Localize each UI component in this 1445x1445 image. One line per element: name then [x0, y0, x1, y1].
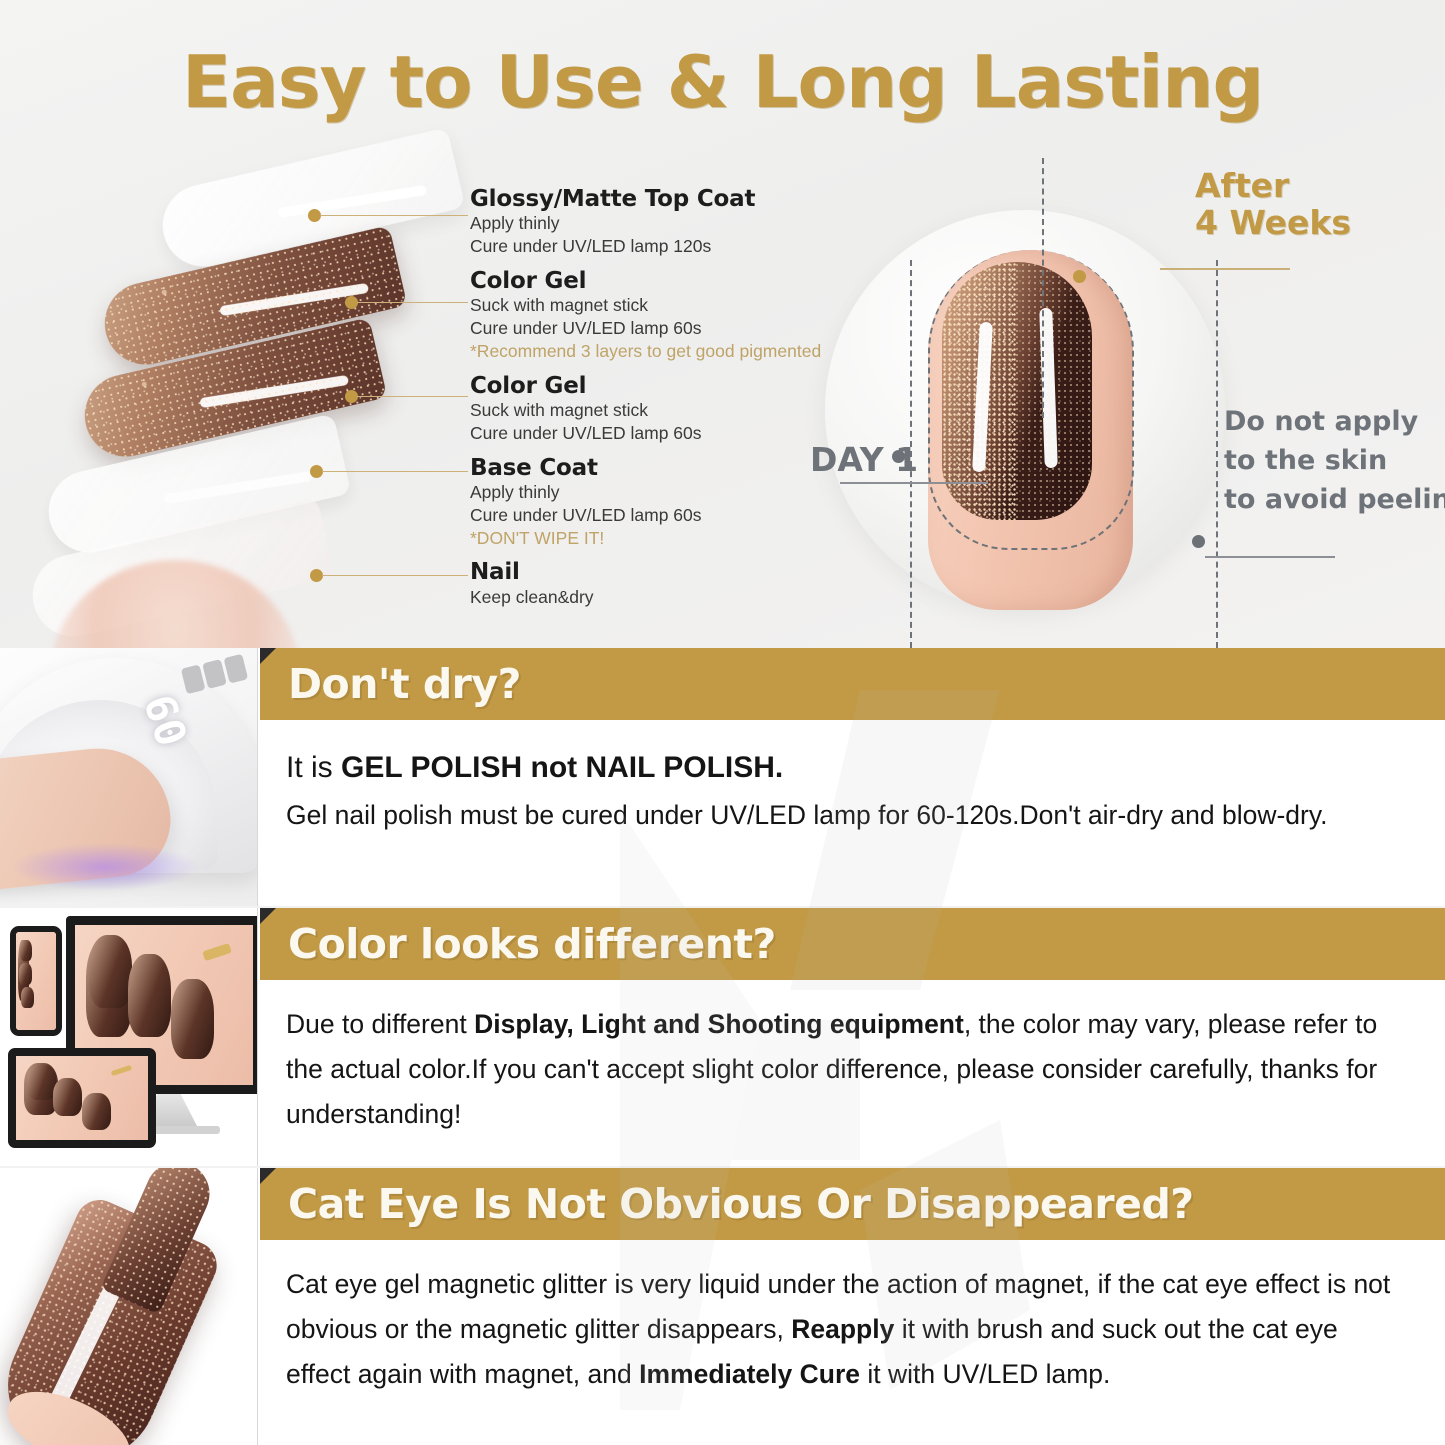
layer-line: Suck with magnet stick: [470, 399, 860, 422]
day-1-label: DAY 1: [810, 440, 918, 479]
faq-section-dont-dry: 60 Don't dry? It is GEL POLISH not NAIL …: [0, 648, 1445, 906]
faq-text-bold: Display, Light and Shooting equipment: [474, 1009, 964, 1039]
faq-body-text: Due to different Display, Light and Shoo…: [260, 980, 1445, 1137]
banner-notch-icon: [260, 648, 276, 664]
leader-line-color-gel-2: [357, 396, 468, 397]
day-1-underline: [840, 482, 988, 484]
layer-stack-illustration: [40, 150, 500, 648]
faq-text-bold-cure: Immediately Cure: [639, 1359, 860, 1389]
layer-note: *DON'T WIPE IT!: [470, 527, 860, 550]
skin-warning-line-1: Do not apply: [1224, 402, 1445, 441]
leader-line-top-coat: [320, 215, 468, 216]
layer-nail: Nail Keep clean&dry: [470, 559, 860, 608]
layer-line: Cure under UV/LED lamp 120s: [470, 235, 860, 258]
page-title: Easy to Use & Long Lasting: [0, 40, 1445, 124]
banner-notch-icon: [260, 1168, 276, 1184]
faq-banner-cat-eye: Cat Eye Is Not Obvious Or Disappeared?: [260, 1168, 1445, 1240]
layer-line: Cure under UV/LED lamp 60s: [470, 317, 860, 340]
layer-line: Cure under UV/LED lamp 60s: [470, 422, 860, 445]
leader-line-nail: [322, 575, 468, 576]
faq-heading: Cat Eye Is Not Obvious Or Disappeared?: [288, 1180, 1194, 1228]
faq-body-text: It is GEL POLISH not NAIL POLISH. Gel na…: [260, 720, 1445, 838]
leader-line-base-coat: [322, 471, 468, 472]
layer-line: Keep clean&dry: [470, 586, 860, 609]
layer-color-gel-2: Color Gel Suck with magnet stick Cure un…: [470, 373, 860, 445]
layer-title: Color Gel: [470, 268, 860, 294]
faq-section-cat-eye: Cat Eye Is Not Obvious Or Disappeared? C…: [0, 1168, 1445, 1445]
faq-text-post: it with UV/LED lamp.: [860, 1359, 1110, 1389]
uv-lamp-photo: 60: [0, 648, 258, 906]
layer-top-coat: Glossy/Matte Top Coat Apply thinly Cure …: [470, 186, 860, 258]
faq-section-color-different: Color looks different? Due to different …: [0, 908, 1445, 1166]
faq-lead-bold: GEL POLISH not NAIL POLISH.: [341, 751, 783, 784]
layer-line: Apply thinly: [470, 481, 860, 504]
layer-line: Apply thinly: [470, 212, 860, 235]
after-underline: [1160, 268, 1290, 270]
phone-device: [10, 926, 62, 1036]
leader-line-color-gel-1: [357, 302, 468, 303]
nail-outline-dashes: [928, 250, 1134, 550]
faq-paragraph: Gel nail polish must be cured under UV/L…: [286, 800, 1328, 830]
faq-text-bold-reapply: Reapply: [791, 1314, 894, 1344]
faq-text-pre: Due to different: [286, 1009, 474, 1039]
layer-note: *Recommend 3 layers to get good pigmente…: [470, 340, 860, 363]
layer-title: Base Coat: [470, 455, 860, 481]
hero-panel: Easy to Use & Long Lasting Glossy/Matte …: [0, 0, 1445, 648]
leader-dot-after-4-weeks: [1073, 270, 1086, 283]
layer-line: Suck with magnet stick: [470, 294, 860, 317]
faq-banner-dont-dry: Don't dry?: [260, 648, 1445, 720]
layer-line: Cure under UV/LED lamp 60s: [470, 504, 860, 527]
layer-base-coat: Base Coat Apply thinly Cure under UV/LED…: [470, 455, 860, 550]
infographic-page: Easy to Use & Long Lasting Glossy/Matte …: [0, 0, 1445, 1445]
after-line-2: 4 Weeks: [1195, 205, 1351, 242]
leader-dot-skin: [1192, 535, 1205, 548]
layer-labels: Glossy/Matte Top Coat Apply thinly Cure …: [470, 186, 860, 618]
after-line-1: After: [1195, 168, 1351, 205]
faq-body-text: Cat eye gel magnetic glitter is very liq…: [260, 1240, 1445, 1397]
after-4-weeks-label: After 4 Weeks: [1195, 168, 1351, 242]
layer-title: Nail: [470, 559, 860, 585]
skin-warning-line-2: to the skin: [1224, 441, 1445, 480]
skin-warning-line-3: to avoid peeling: [1224, 480, 1445, 519]
faq-lead-plain: It is: [286, 751, 341, 784]
layer-title: Glossy/Matte Top Coat: [470, 186, 860, 212]
day-split-dashed-line: [1042, 158, 1044, 418]
tablet-device: [8, 1048, 156, 1148]
banner-notch-icon: [260, 908, 276, 924]
faq-heading: Color looks different?: [288, 920, 776, 968]
lamp-buttons: [181, 654, 248, 694]
brush-nail-photo: [0, 1168, 258, 1445]
skin-warning-underline: [1205, 556, 1335, 558]
faq-heading: Don't dry?: [288, 660, 521, 708]
faq-banner-color-different: Color looks different?: [260, 908, 1445, 980]
do-not-apply-warning: Do not apply to the skin to avoid peelin…: [1224, 402, 1445, 519]
layer-color-gel-1: Color Gel Suck with magnet stick Cure un…: [470, 268, 860, 363]
devices-photo: [0, 908, 258, 1166]
layer-title: Color Gel: [470, 373, 860, 399]
